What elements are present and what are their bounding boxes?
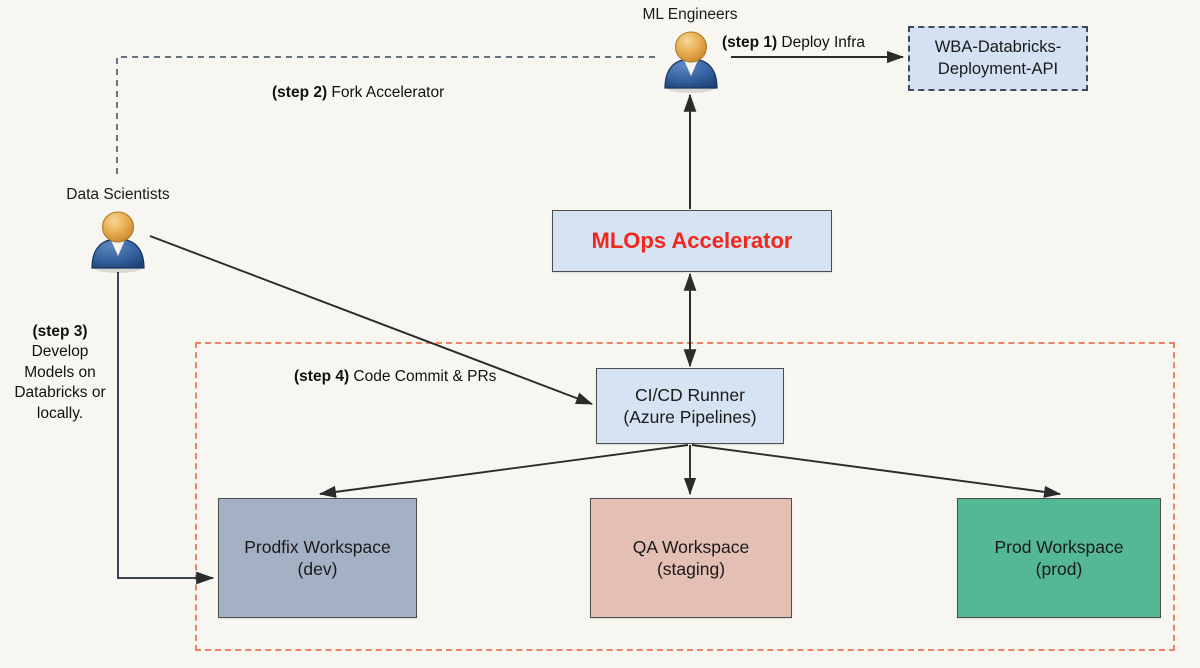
data-scientists-label: Data Scientists <box>38 186 198 204</box>
user-icon <box>85 208 151 274</box>
diagram-canvas: ML Engineers Data Scientists <box>0 0 1200 668</box>
node-cicd-runner[interactable]: CI/CD Runner (Azure Pipelines) <box>596 368 784 444</box>
note-step-4-step: (step 4) <box>294 368 349 385</box>
ml-engineers-avatar[interactable] <box>658 28 724 94</box>
cicd-line-1: CI/CD Runner <box>623 384 756 406</box>
dev-line-2: (dev) <box>244 558 391 580</box>
mlops-label: MLOps Accelerator <box>592 227 793 255</box>
node-prodfix-workspace-dev[interactable]: Prodfix Workspace (dev) <box>218 498 417 618</box>
note-step-3-text: Develop Models on Databricks or locally. <box>14 343 105 421</box>
note-step-1-text: Deploy Infra <box>777 34 865 51</box>
node-prod-workspace-prod[interactable]: Prod Workspace (prod) <box>957 498 1161 618</box>
node-wba-databricks-deployment-api[interactable]: WBA-Databricks- Deployment-API <box>908 26 1088 91</box>
note-step-4-text: Code Commit & PRs <box>349 368 496 385</box>
data-scientists-avatar[interactable] <box>85 208 151 274</box>
edge-ml-engineers-to-data-scientists <box>117 57 655 178</box>
prod-line-2: (prod) <box>994 558 1123 580</box>
prod-line-1: Prod Workspace <box>994 536 1123 558</box>
qa-line-2: (staging) <box>633 558 749 580</box>
qa-line-1: QA Workspace <box>633 536 749 558</box>
cicd-line-2: (Azure Pipelines) <box>623 406 756 428</box>
node-mlops-accelerator[interactable]: MLOps Accelerator <box>552 210 832 272</box>
note-step-3-step: (step 3) <box>32 323 87 340</box>
note-step-1-step: (step 1) <box>722 34 777 51</box>
user-icon <box>658 28 724 94</box>
note-step-2-text: Fork Accelerator <box>327 84 444 101</box>
dev-line-1: Prodfix Workspace <box>244 536 391 558</box>
wba-line-1: WBA-Databricks- <box>935 37 1062 58</box>
ml-engineers-label: ML Engineers <box>610 6 770 24</box>
note-step-3: (step 3) Develop Models on Databricks or… <box>8 322 112 424</box>
note-step-2-step: (step 2) <box>272 84 327 101</box>
note-step-1: (step 1) Deploy Infra <box>722 33 865 53</box>
node-qa-workspace-staging[interactable]: QA Workspace (staging) <box>590 498 792 618</box>
wba-line-2: Deployment-API <box>935 59 1062 80</box>
note-step-4: (step 4) Code Commit & PRs <box>294 367 496 387</box>
note-step-2: (step 2) Fork Accelerator <box>272 83 444 103</box>
